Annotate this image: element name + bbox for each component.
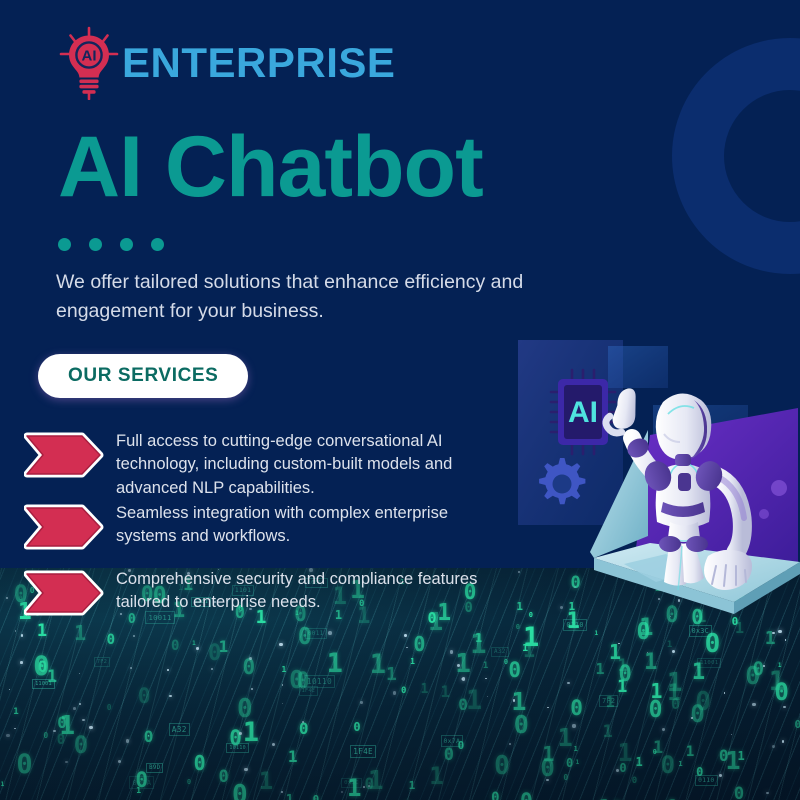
arrow-banner-icon (24, 504, 104, 550)
gear-icon (539, 458, 585, 504)
list-item-text: Seamless integration with complex enterp… (116, 502, 496, 549)
arrow-banner-icon (24, 570, 104, 616)
lightbulb-ai-icon: AI (58, 26, 120, 100)
robot-emerging-from-laptop: AI (498, 330, 800, 630)
page-title: AI Chatbot (58, 124, 483, 210)
svg-text:AI: AI (568, 396, 598, 429)
arrow-banner-icon (24, 432, 104, 478)
ring-decoration (672, 38, 800, 274)
dot (151, 238, 164, 251)
list-item-text: Comprehensive security and compliance fe… (116, 568, 496, 615)
svg-text:AI: AI (82, 48, 97, 65)
our-services-badge[interactable]: OUR SERVICES (38, 354, 248, 398)
list-item-text: Full access to cutting-edge conversation… (116, 430, 496, 500)
ai-chip-icon: AI (551, 370, 615, 454)
hero-subtitle: We offer tailored solutions that enhance… (56, 268, 561, 326)
dot (89, 238, 102, 251)
dot (58, 238, 71, 251)
brand-word: ENTERPRISE (122, 42, 395, 84)
brand-logo[interactable]: AI ENTERPRISE (58, 26, 395, 100)
poster-canvas: 0101101001011001010110100110100110010110… (0, 0, 800, 800)
decorative-dots (58, 238, 164, 251)
dot (120, 238, 133, 251)
